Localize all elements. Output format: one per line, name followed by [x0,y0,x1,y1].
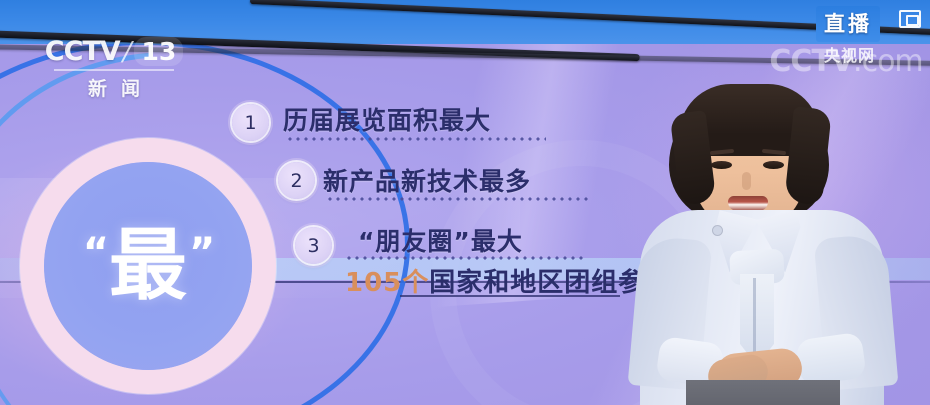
channel-network-label: CCTV [45,36,120,67]
emblem-quote-close: ” [189,233,213,273]
watermark-cn-label: 央视网 [824,42,875,66]
anchor-eye-right [763,161,784,169]
emblem-character: 最 [109,227,187,305]
list-item-2-dotted-rule [326,197,588,201]
live-badge: 直播 [816,6,880,42]
highlight-underline [400,295,620,297]
channel-number: 13 [134,37,183,66]
website-watermark: 央视网 CCTV.com [766,44,926,79]
channel-logo-row: CCTV / 13 [48,36,180,67]
anchor-mouth [728,196,768,211]
anchor-lapel-microphone [713,226,722,235]
channel-slash: / [120,37,135,67]
anchor-nose [742,172,751,190]
list-badge-1: 1 [232,104,269,141]
anchor-eye-left [711,161,732,169]
list-item-3-text: “朋友圈”最大 [358,222,523,258]
picture-in-picture-icon[interactable] [899,10,921,28]
emblem-quote-open: “ [83,233,107,273]
list-badge-2: 2 [278,162,315,199]
channel-name-cn: 新闻 [48,74,180,101]
broadcast-screenshot: “ 最 ” 1 历届展览面积最大 2 新产品新技术最多 3 “朋友圈”最大 10… [0,0,930,405]
channel-logo-underline [54,69,174,71]
anchor-skirt [686,380,840,405]
list-item-1-text: 历届展览面积最大 [283,101,491,137]
list-item-2-text: 新产品新技术最多 [323,162,531,198]
list-badge-3: 3 [295,227,332,264]
highlight-value: 105个 [345,268,429,298]
pip-icon-inner-frame [906,15,919,26]
list-item-3-dotted-rule [345,256,583,260]
channel-logo: CCTV / 13 新闻 [48,36,180,101]
emblem-ring: “ 最 ” [44,162,252,370]
emblem-inner: “ 最 ” [83,227,214,305]
list-item-1-dotted-rule [286,137,546,141]
news-anchor [612,68,912,405]
